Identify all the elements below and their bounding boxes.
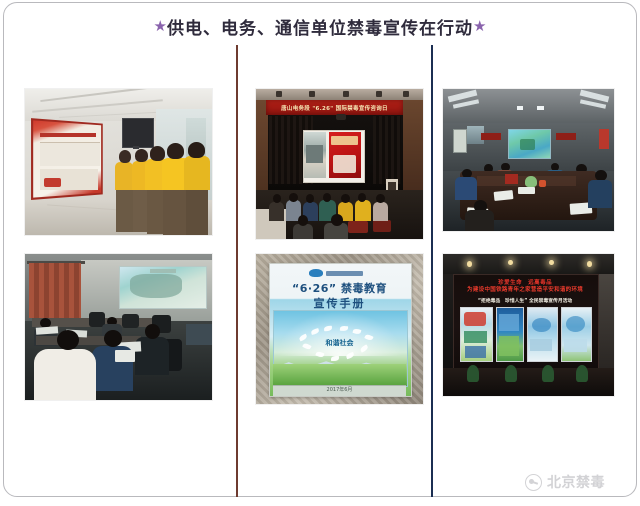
dove-icon bbox=[331, 356, 339, 361]
photo-scene: 唐山电务段 "6.26" 国际禁毒宣传咨询日 bbox=[256, 89, 423, 239]
photo-auditorium-lecture[interactable]: 唐山电务段 "6.26" 国际禁毒宣传咨询日 bbox=[256, 89, 423, 239]
star-icon-right: ★ bbox=[473, 19, 486, 34]
photo-scene bbox=[25, 254, 212, 400]
star-icon-left: ★ bbox=[154, 19, 167, 34]
organization-logo-icon bbox=[309, 269, 322, 277]
plant-icon bbox=[542, 365, 554, 382]
dove-icon bbox=[339, 326, 348, 331]
brochure-title-line2: 宣传手册 bbox=[273, 295, 407, 311]
plant-icon bbox=[505, 365, 517, 382]
page-title-text: 供电、电务、通信单位禁毒宣传在行动 bbox=[167, 14, 473, 39]
photo-scene: “6·26” 禁毒教育 宣传手册 和谐社会 2017年6月 bbox=[256, 254, 423, 404]
brochure-heart-text: 和谐社会 bbox=[299, 338, 379, 348]
brochure-title-line1: “6·26” 禁毒教育 bbox=[273, 280, 407, 296]
ceiling-light-icon bbox=[467, 261, 472, 267]
screenshot-root: ★供电、电务、通信单位禁毒宣传在行动★ bbox=[0, 0, 640, 506]
photo-scene bbox=[443, 89, 614, 231]
board-subtitle: “拒绝毒品 珍惜人生” 全民禁毒宣传月活动 bbox=[460, 297, 590, 304]
ceiling-light-icon bbox=[587, 261, 592, 267]
column-divider-left bbox=[236, 45, 238, 497]
photo-scene: 珍爱生命 远离毒品 为建设中国铁路青年之家营造平安和谐的环境 “拒绝毒品 珍惜人… bbox=[443, 254, 614, 396]
account-logo-icon bbox=[525, 474, 542, 491]
brochure-footer-date: 2017年6月 bbox=[273, 386, 407, 393]
column-divider-right bbox=[431, 45, 433, 497]
photo-classroom-training[interactable] bbox=[25, 254, 212, 400]
wall-monitor bbox=[122, 118, 154, 148]
photo-corridor-poster-board[interactable] bbox=[25, 89, 212, 235]
poster-panel bbox=[561, 307, 592, 363]
plant-icon bbox=[467, 365, 479, 382]
poster-panel bbox=[527, 307, 558, 363]
organization-name bbox=[326, 271, 363, 276]
stage-banner-text: 唐山电务段 "6.26" 国际禁毒宣传咨询日 bbox=[266, 100, 403, 115]
plant-icon bbox=[576, 365, 588, 382]
board-headline-2: 为建设中国铁路青年之家营造平安和谐的环境 bbox=[457, 285, 594, 293]
photo-meeting-room-projection[interactable] bbox=[443, 89, 614, 231]
projector-icon bbox=[336, 114, 346, 120]
photo-scene bbox=[25, 89, 212, 235]
window-curtain bbox=[29, 263, 81, 318]
watermark: 北京禁毒 bbox=[525, 472, 605, 492]
watermark-text: 北京禁毒 bbox=[547, 472, 605, 492]
photo-led-display-board[interactable]: 珍爱生命 远离毒品 为建设中国铁路青年之家营造平安和谐的环境 “拒绝毒品 珍惜人… bbox=[443, 254, 614, 396]
page-title: ★供电、电务、通信单位禁毒宣传在行动★ bbox=[0, 14, 640, 39]
content-card bbox=[3, 2, 637, 497]
photo-brochure-cover[interactable]: “6·26” 禁毒教育 宣传手册 和谐社会 2017年6月 bbox=[256, 254, 423, 404]
stage-banner: 唐山电务段 "6.26" 国际禁毒宣传咨询日 bbox=[266, 100, 403, 115]
